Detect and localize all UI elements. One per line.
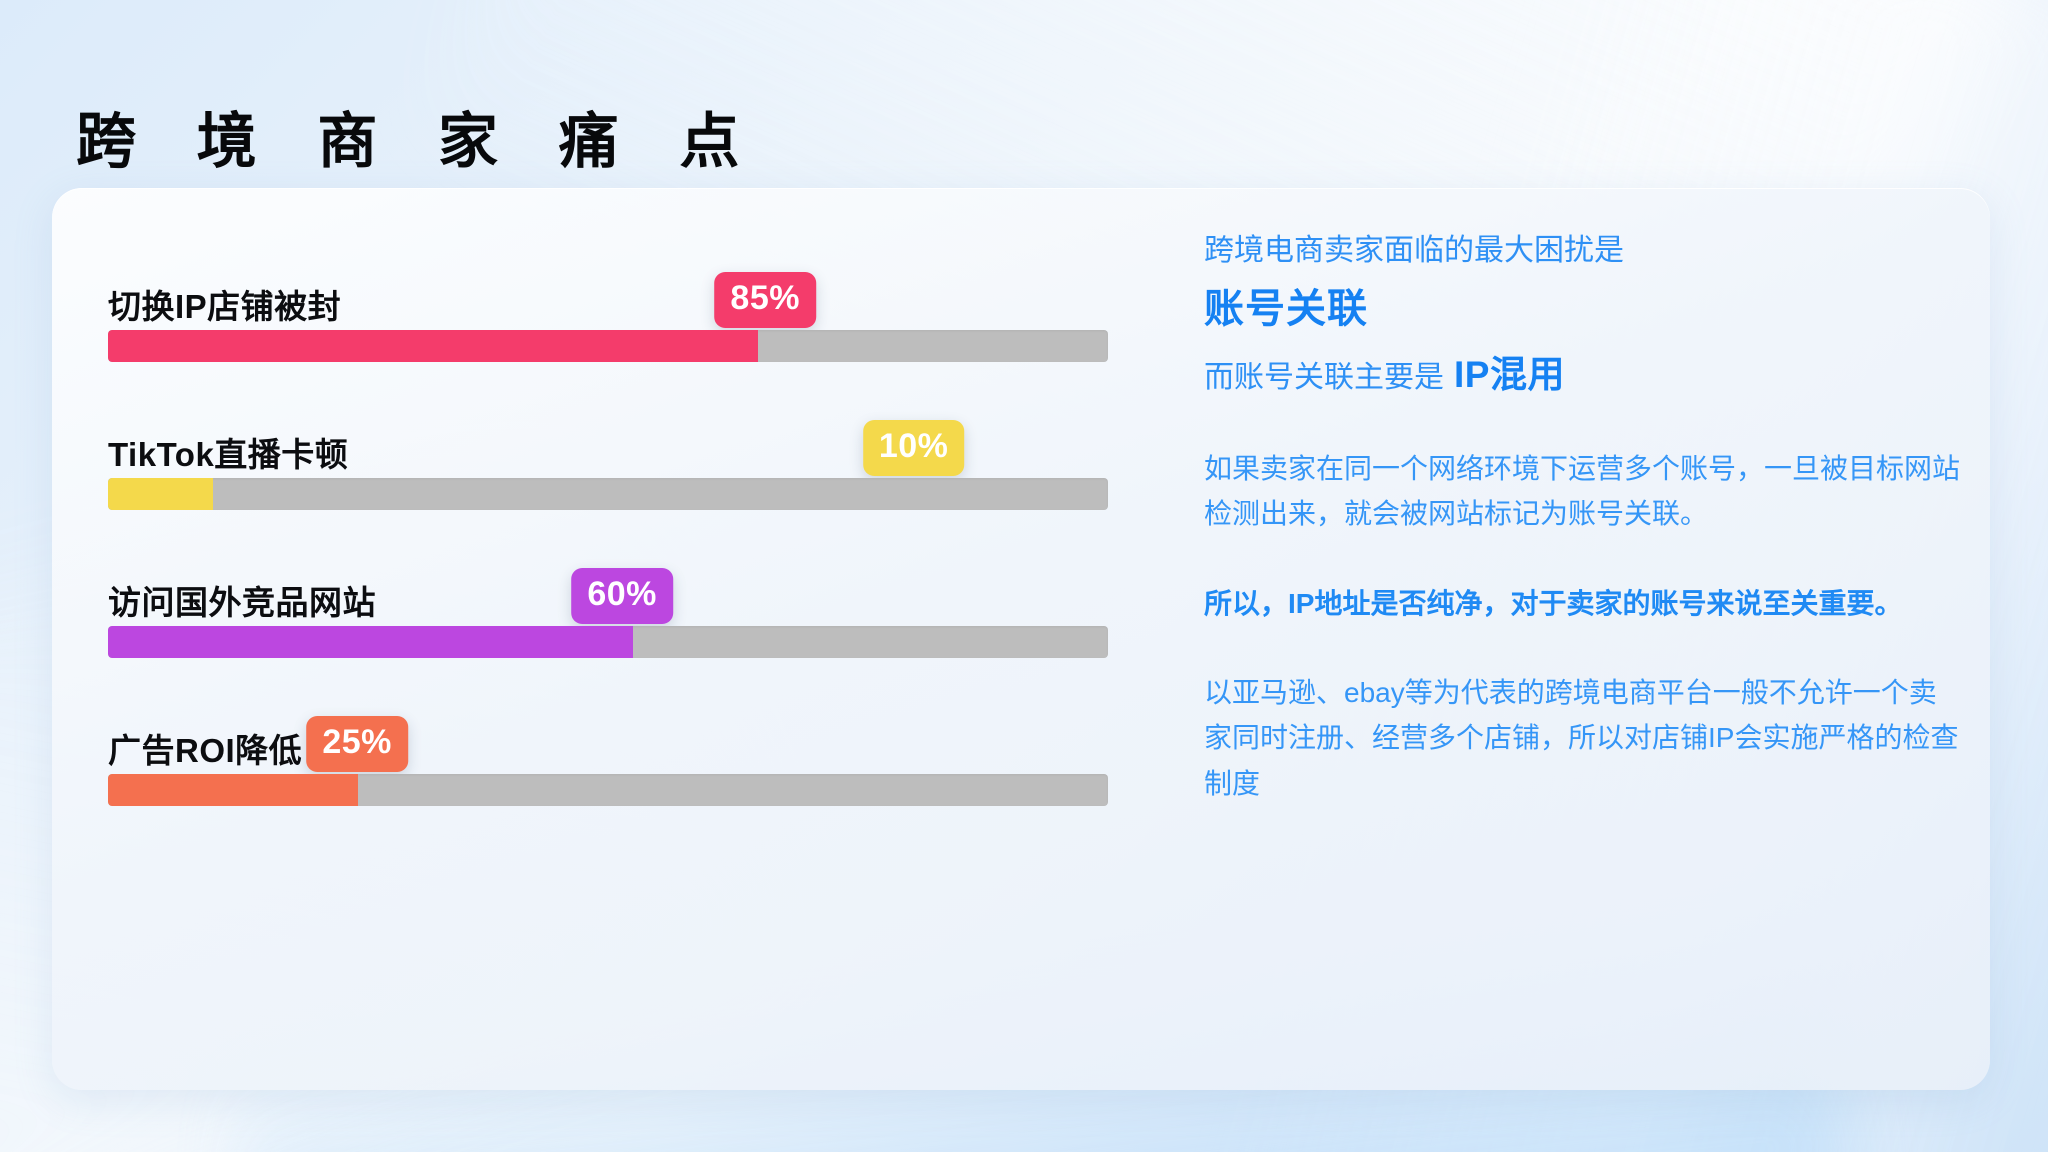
bar-header: TikTok直播卡顿10% [108,406,1168,478]
slide-root: 跨 境 商 家 痛 点 切换IP店铺被封85%TikTok直播卡顿10%访问国外… [0,0,2048,1152]
bar-track [108,330,1108,362]
bar-group: TikTok直播卡顿10% [108,406,1168,510]
bar-group: 访问国外竞品网站60% [108,554,1168,658]
copy-hero: 账号关联 [1204,281,1964,337]
bar-value-badge: 10% [863,420,965,476]
copy-subline-emphasis: IP混用 [1454,354,1565,395]
bar-label: 访问国外竞品网站 [108,576,376,624]
explanation-panel: 跨境电商卖家面临的最大困扰是 账号关联 而账号关联主要是IP混用 如果卖家在同一… [1204,228,1964,806]
bar-label: 广告ROI降低 [108,724,302,772]
bar-value-badge: 85% [714,272,816,328]
bar-track [108,774,1108,806]
pain-point-bar-chart: 切换IP店铺被封85%TikTok直播卡顿10%访问国外竞品网站60%广告ROI… [108,258,1168,806]
copy-subline: 而账号关联主要是IP混用 [1204,347,1964,403]
copy-lead: 跨境电商卖家面临的最大困扰是 [1204,228,1964,275]
page-title: 跨 境 商 家 痛 点 [76,112,761,172]
copy-subline-prefix: 而账号关联主要是 [1204,361,1444,394]
bar-group: 广告ROI降低25% [108,702,1168,806]
bar-header: 访问国外竞品网站60% [108,554,1168,626]
bar-track [108,626,1108,658]
bar-group: 切换IP店铺被封85% [108,258,1168,362]
bar-label: TikTok直播卡顿 [108,428,348,476]
bar-label: 切换IP店铺被封 [108,280,341,328]
bar-fill [108,774,358,806]
bar-header: 切换IP店铺被封85% [108,258,1168,330]
bar-header: 广告ROI降低25% [108,702,1168,774]
bar-value-badge: 60% [571,568,673,624]
copy-paragraph-3: 以亚马逊、ebay等为代表的跨境电商平台一般不允许一个卖家同时注册、经营多个店铺… [1204,670,1964,806]
bar-fill [108,330,758,362]
bar-track [108,478,1108,510]
copy-paragraph-1: 如果卖家在同一个网络环境下运营多个账号，一旦被目标网站检测出来，就会被网站标记为… [1204,446,1964,537]
copy-paragraph-2: 所以，IP地址是否纯净，对于卖家的账号来说至关重要。 [1204,581,1964,626]
bar-value-badge: 25% [306,716,408,772]
content-card: 切换IP店铺被封85%TikTok直播卡顿10%访问国外竞品网站60%广告ROI… [52,188,1990,1090]
bar-fill [108,478,213,510]
bar-fill [108,626,633,658]
